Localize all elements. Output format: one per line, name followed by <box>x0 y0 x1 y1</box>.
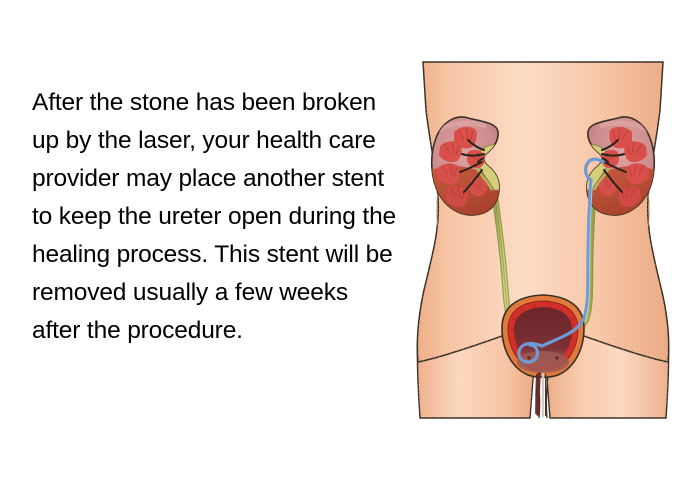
left-ureteric-orifice <box>527 356 530 359</box>
urethra <box>536 374 546 416</box>
caption-text: After the stone has been broken up by th… <box>32 84 398 350</box>
anatomy-illustration <box>398 40 688 440</box>
right-ureteric-orifice <box>555 356 558 359</box>
bladder <box>502 295 584 377</box>
illustration-page: After the stone has been broken up by th… <box>0 0 700 480</box>
